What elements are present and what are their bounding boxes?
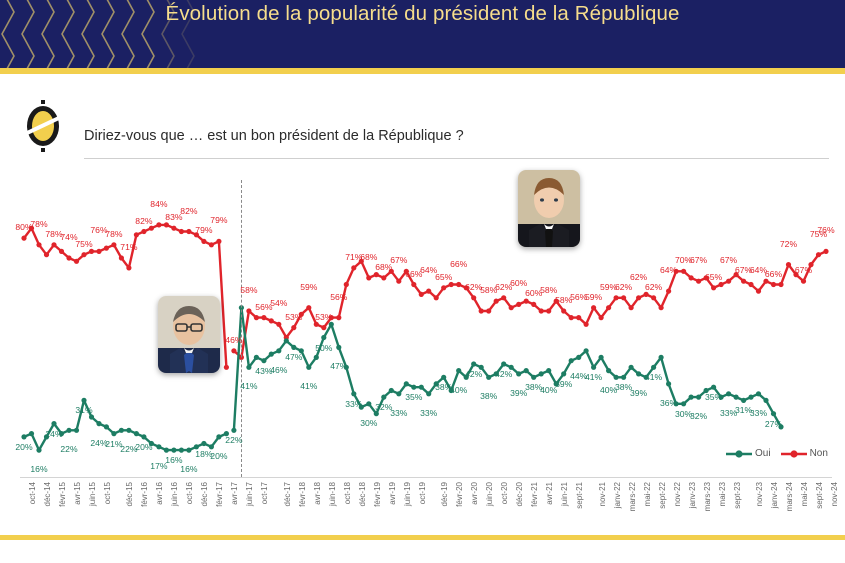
x-tick-label: déc-19	[440, 482, 449, 506]
x-tick-label: oct-16	[185, 482, 194, 504]
data-point-oui	[629, 365, 634, 370]
data-label-oui: 16%	[180, 465, 197, 474]
data-point-oui	[246, 365, 251, 370]
x-tick-label: sept-23	[733, 482, 742, 509]
data-label-oui: 38%	[480, 392, 497, 401]
x-tick-label: oct-20	[500, 482, 509, 504]
data-label-oui: 20%	[210, 452, 227, 461]
data-label-non: 64%	[660, 266, 677, 275]
data-point-non	[591, 305, 596, 310]
x-tick-label: nov-22	[673, 482, 682, 506]
data-point-non	[51, 242, 56, 247]
data-label-non: 67%	[720, 256, 737, 265]
x-tick-label: déc-17	[283, 482, 292, 506]
data-label-oui: 33%	[750, 409, 767, 418]
data-point-oui	[546, 368, 551, 373]
data-point-non	[231, 348, 236, 353]
data-point-non	[471, 295, 476, 300]
x-tick-label: oct-14	[28, 482, 37, 504]
data-point-oui	[591, 365, 596, 370]
data-point-non	[66, 255, 71, 260]
data-label-non: 71%	[120, 243, 137, 252]
data-point-oui	[471, 361, 476, 366]
x-tick-label: mars-22	[628, 482, 637, 511]
data-label-oui: 40%	[450, 386, 467, 395]
data-point-oui	[284, 338, 289, 343]
data-point-oui	[36, 448, 41, 453]
x-tick-label: mai-22	[643, 482, 652, 506]
data-point-non	[396, 279, 401, 284]
x-tick-label: avr-17	[230, 482, 239, 505]
data-point-non	[246, 308, 251, 313]
data-point-oui	[21, 434, 26, 439]
data-point-non	[501, 295, 506, 300]
data-point-oui	[569, 358, 574, 363]
chart-legend: Oui Non	[726, 448, 828, 459]
data-point-oui	[269, 352, 274, 357]
x-tick-label: juin-18	[328, 482, 337, 506]
data-point-non	[449, 282, 454, 287]
data-point-non	[636, 295, 641, 300]
data-label-oui: 41%	[300, 382, 317, 391]
data-label-oui: 36%	[660, 399, 677, 408]
data-point-oui	[501, 361, 506, 366]
data-point-non	[516, 302, 521, 307]
data-point-non	[276, 322, 281, 327]
x-tick-label: févr-15	[58, 482, 67, 507]
portrait-macron	[518, 170, 580, 247]
data-label-non: 66%	[450, 260, 467, 269]
data-label-oui: 24%	[45, 430, 62, 439]
data-point-oui	[291, 345, 296, 350]
data-point-oui	[486, 375, 491, 380]
data-label-non: 78%	[105, 230, 122, 239]
data-label-non: 53%	[315, 313, 332, 322]
data-label-oui: 22%	[225, 436, 242, 445]
data-label-non: 58%	[540, 286, 557, 295]
data-point-non	[599, 315, 604, 320]
x-tick-label: déc-16	[200, 482, 209, 506]
x-tick-label: oct-19	[418, 482, 427, 504]
legend-swatch-non	[781, 449, 807, 459]
data-point-oui	[524, 368, 529, 373]
data-point-non	[726, 279, 731, 284]
data-point-oui	[531, 375, 536, 380]
data-point-non	[561, 308, 566, 313]
data-point-non	[36, 242, 41, 247]
x-tick-label: janv-23	[688, 482, 697, 508]
data-point-oui	[606, 368, 611, 373]
x-tick-label: janv-24	[770, 482, 779, 508]
portrait-hollande	[158, 296, 220, 373]
data-label-non: 78%	[30, 220, 47, 229]
page-footer: ODOXA Crédits photos	[0, 540, 845, 563]
x-tick-label: mai-24	[800, 482, 809, 506]
data-point-oui	[179, 448, 184, 453]
data-point-oui	[186, 448, 191, 453]
data-point-non	[756, 289, 761, 294]
data-point-non	[119, 255, 124, 260]
data-point-oui	[29, 431, 34, 436]
data-point-non	[156, 222, 161, 227]
data-label-oui: 22%	[60, 445, 77, 454]
data-point-non	[801, 279, 806, 284]
data-point-non	[584, 322, 589, 327]
x-tick-label: févr-17	[215, 482, 224, 507]
data-point-oui	[404, 381, 409, 386]
data-point-oui	[104, 424, 109, 429]
data-point-oui	[74, 428, 79, 433]
data-point-oui	[748, 395, 753, 400]
data-label-non: 58%	[240, 286, 257, 295]
data-point-oui	[516, 371, 521, 376]
data-point-non	[366, 275, 371, 280]
data-point-non	[201, 239, 206, 244]
data-label-non: 67%	[690, 256, 707, 265]
data-point-non	[209, 242, 214, 247]
data-point-non	[254, 315, 259, 320]
data-point-non	[426, 289, 431, 294]
data-label-oui: 33%	[345, 400, 362, 409]
data-point-oui	[231, 428, 236, 433]
data-point-oui	[711, 385, 716, 390]
data-label-non: 62%	[645, 283, 662, 292]
data-point-non	[659, 305, 664, 310]
data-point-non	[411, 282, 416, 287]
data-point-oui	[351, 391, 356, 396]
data-label-oui: 32%	[690, 412, 707, 421]
data-label-non: 67%	[795, 266, 812, 275]
data-label-oui: 33%	[420, 409, 437, 418]
data-point-oui	[314, 355, 319, 360]
data-point-oui	[734, 395, 739, 400]
legend-label-non: Non	[810, 448, 828, 459]
data-point-oui	[164, 448, 169, 453]
data-label-non: 82%	[180, 207, 197, 216]
data-point-oui	[576, 355, 581, 360]
data-label-oui: 27%	[765, 420, 782, 429]
data-label-oui: 35%	[405, 393, 422, 402]
data-point-oui	[261, 358, 266, 363]
data-label-oui: 41%	[645, 373, 662, 382]
data-label-oui: 41%	[240, 382, 257, 391]
x-tick-label: juin-17	[245, 482, 254, 506]
x-tick-label: mars-24	[785, 482, 794, 511]
data-point-oui	[254, 355, 259, 360]
x-tick-label: juin-19	[403, 482, 412, 506]
data-label-non: 53%	[285, 313, 302, 322]
data-label-non: 79%	[210, 216, 227, 225]
data-point-non	[696, 279, 701, 284]
data-point-non	[111, 242, 116, 247]
data-label-non: 56%	[330, 293, 347, 302]
data-point-oui	[96, 421, 101, 426]
data-point-oui	[561, 371, 566, 376]
data-label-oui: 16%	[30, 465, 47, 474]
data-label-oui: 30%	[360, 419, 377, 428]
x-tick-label: févr-20	[455, 482, 464, 507]
x-tick-label: déc-18	[358, 482, 367, 506]
data-point-oui	[689, 395, 694, 400]
x-tick-label: avr-18	[313, 482, 322, 505]
data-point-non	[44, 252, 49, 257]
data-label-non: 72%	[780, 240, 797, 249]
data-point-oui	[741, 398, 746, 403]
x-tick-label: avr-20	[470, 482, 479, 505]
data-point-non	[719, 282, 724, 287]
data-label-oui: 20%	[15, 443, 32, 452]
data-point-oui	[771, 411, 776, 416]
mandate-change-divider	[241, 180, 242, 477]
data-point-oui	[381, 395, 386, 400]
data-point-non	[269, 318, 274, 323]
data-point-non	[186, 229, 191, 234]
data-label-oui: 41%	[585, 373, 602, 382]
data-point-non	[89, 249, 94, 254]
x-tick-label: oct-15	[103, 482, 112, 504]
data-point-non	[823, 249, 828, 254]
data-point-non	[741, 279, 746, 284]
data-point-non	[434, 295, 439, 300]
data-point-non	[164, 222, 169, 227]
data-point-oui	[321, 335, 326, 340]
data-point-oui	[456, 368, 461, 373]
data-point-non	[381, 275, 386, 280]
data-point-oui	[51, 421, 56, 426]
data-label-oui: 20%	[135, 443, 152, 452]
data-label-oui: 35%	[705, 393, 722, 402]
x-tick-label: févr-18	[298, 482, 307, 507]
data-point-non	[614, 295, 619, 300]
data-label-oui: 50%	[315, 344, 332, 353]
data-point-oui	[411, 385, 416, 390]
data-label-oui: 31%	[75, 406, 92, 415]
x-tick-label: juin-15	[88, 482, 97, 506]
x-tick-label: déc-14	[43, 482, 52, 506]
data-point-non	[149, 226, 154, 231]
data-label-non: 54%	[270, 299, 287, 308]
x-tick-label: sept-24	[815, 482, 824, 509]
data-point-non	[179, 229, 184, 234]
data-point-non	[59, 249, 64, 254]
data-point-oui	[389, 388, 394, 393]
data-label-non: 67%	[390, 256, 407, 265]
data-point-non	[778, 282, 783, 287]
x-tick-label: juin-21	[560, 482, 569, 506]
x-tick-label: avr-16	[155, 482, 164, 505]
data-label-non: 82%	[135, 217, 152, 226]
data-point-non	[441, 285, 446, 290]
data-point-oui	[696, 395, 701, 400]
x-tick-label: sept-22	[658, 482, 667, 509]
data-point-oui	[419, 385, 424, 390]
data-point-oui	[306, 365, 311, 370]
data-point-non	[606, 305, 611, 310]
data-label-oui: 47%	[330, 362, 347, 371]
data-point-oui	[539, 371, 544, 376]
data-point-oui	[614, 375, 619, 380]
data-point-non	[479, 308, 484, 313]
data-point-non	[666, 289, 671, 294]
legend-item-oui[interactable]: Oui	[726, 448, 771, 459]
data-point-non	[748, 282, 753, 287]
data-point-non	[456, 282, 461, 287]
data-point-non	[629, 305, 634, 310]
data-label-non: 65%	[435, 273, 452, 282]
data-point-oui	[621, 375, 626, 380]
x-tick-label: nov-24	[830, 482, 839, 506]
data-point-oui	[763, 398, 768, 403]
data-label-non: 79%	[195, 226, 212, 235]
x-axis-line	[20, 477, 832, 478]
data-point-oui	[201, 441, 206, 446]
data-label-non: 68%	[360, 253, 377, 262]
data-point-non	[104, 246, 109, 251]
data-point-non	[419, 292, 424, 297]
data-point-non	[494, 299, 499, 304]
data-point-non	[314, 322, 319, 327]
data-point-non	[816, 252, 821, 257]
data-point-non	[786, 262, 791, 267]
data-point-non	[763, 279, 768, 284]
data-point-non	[539, 308, 544, 313]
data-label-oui: 39%	[630, 389, 647, 398]
x-tick-label: avr-15	[73, 482, 82, 505]
data-point-non	[621, 295, 626, 300]
data-point-oui	[134, 431, 139, 436]
data-point-oui	[111, 431, 116, 436]
data-point-non	[81, 252, 86, 257]
data-label-non: 65%	[705, 273, 722, 282]
data-point-oui	[329, 322, 334, 327]
data-point-non	[74, 259, 79, 264]
data-point-oui	[426, 391, 431, 396]
data-label-non: 59%	[300, 283, 317, 292]
data-label-oui: 42%	[495, 370, 512, 379]
x-tick-label: févr-21	[530, 482, 539, 507]
data-point-non	[374, 272, 379, 277]
data-label-non: 75%	[75, 240, 92, 249]
data-point-oui	[119, 428, 124, 433]
data-point-oui	[636, 371, 641, 376]
data-point-non	[351, 265, 356, 270]
data-point-non	[134, 232, 139, 237]
data-point-non	[651, 295, 656, 300]
data-point-non	[524, 299, 529, 304]
legend-item-non[interactable]: Non	[781, 448, 828, 459]
data-point-non	[96, 249, 101, 254]
x-tick-label: juin-16	[170, 482, 179, 506]
x-tick-label: mars-23	[703, 482, 712, 511]
x-tick-label: déc-20	[515, 482, 524, 506]
x-tick-label: juin-20	[485, 482, 494, 506]
data-label-non: 66%	[765, 270, 782, 279]
data-point-oui	[171, 448, 176, 453]
x-tick-label: nov-23	[755, 482, 764, 506]
x-tick-label: avr-19	[388, 482, 397, 505]
x-tick-label: mai-23	[718, 482, 727, 506]
data-point-non	[291, 325, 296, 330]
data-point-oui	[156, 444, 161, 449]
data-point-oui	[584, 348, 589, 353]
data-point-oui	[141, 434, 146, 439]
data-label-oui: 42%	[465, 370, 482, 379]
x-tick-label: sept-21	[575, 482, 584, 509]
data-point-oui	[756, 391, 761, 396]
data-label-non: 46%	[225, 336, 242, 345]
data-point-non	[546, 308, 551, 313]
x-tick-label: oct-18	[343, 482, 352, 504]
data-point-oui	[81, 398, 86, 403]
x-tick-label: févr-16	[140, 482, 149, 507]
x-tick-label: janv-22	[613, 482, 622, 508]
data-point-non	[644, 292, 649, 297]
data-label-non: 62%	[630, 273, 647, 282]
data-label-non: 84%	[150, 200, 167, 209]
data-point-oui	[66, 428, 71, 433]
data-point-non	[306, 305, 311, 310]
data-point-non	[224, 365, 229, 370]
data-point-non	[486, 308, 491, 313]
data-point-non	[21, 236, 26, 241]
x-tick-label: oct-17	[260, 482, 269, 504]
data-point-oui	[336, 345, 341, 350]
x-tick-label: nov-21	[598, 482, 607, 506]
data-point-non	[344, 282, 349, 287]
data-point-oui	[666, 381, 671, 386]
data-point-oui	[441, 375, 446, 380]
data-point-non	[531, 302, 536, 307]
data-point-oui	[599, 355, 604, 360]
x-tick-label: févr-19	[373, 482, 382, 507]
data-label-non: 76%	[817, 226, 834, 235]
data-label-non: 59%	[585, 293, 602, 302]
data-point-non	[509, 305, 514, 310]
data-point-oui	[651, 365, 656, 370]
data-point-non	[771, 282, 776, 287]
data-point-non	[576, 315, 581, 320]
data-point-oui	[126, 428, 131, 433]
data-point-non	[261, 315, 266, 320]
legend-swatch-oui	[726, 449, 752, 459]
data-point-non	[569, 315, 574, 320]
data-point-oui	[396, 391, 401, 396]
data-point-non	[321, 325, 326, 330]
data-point-oui	[276, 348, 281, 353]
data-label-non: 60%	[510, 279, 527, 288]
data-point-oui	[216, 434, 221, 439]
data-point-non	[141, 229, 146, 234]
data-point-oui	[659, 355, 664, 360]
data-label-oui: 46%	[270, 366, 287, 375]
data-label-non: 62%	[615, 283, 632, 292]
data-point-non	[126, 265, 131, 270]
data-point-oui	[366, 401, 371, 406]
data-point-oui	[681, 401, 686, 406]
x-tick-label: avr-21	[545, 482, 554, 505]
data-point-oui	[726, 391, 731, 396]
data-point-non	[689, 275, 694, 280]
data-point-non	[216, 239, 221, 244]
data-point-non	[171, 226, 176, 231]
x-tick-label: déc-15	[125, 482, 134, 506]
legend-label-oui: Oui	[755, 448, 771, 459]
data-label-oui: 33%	[390, 409, 407, 418]
data-point-non	[711, 285, 716, 290]
data-point-non	[681, 269, 686, 274]
data-point-non	[336, 315, 341, 320]
data-label-oui: 47%	[285, 353, 302, 362]
